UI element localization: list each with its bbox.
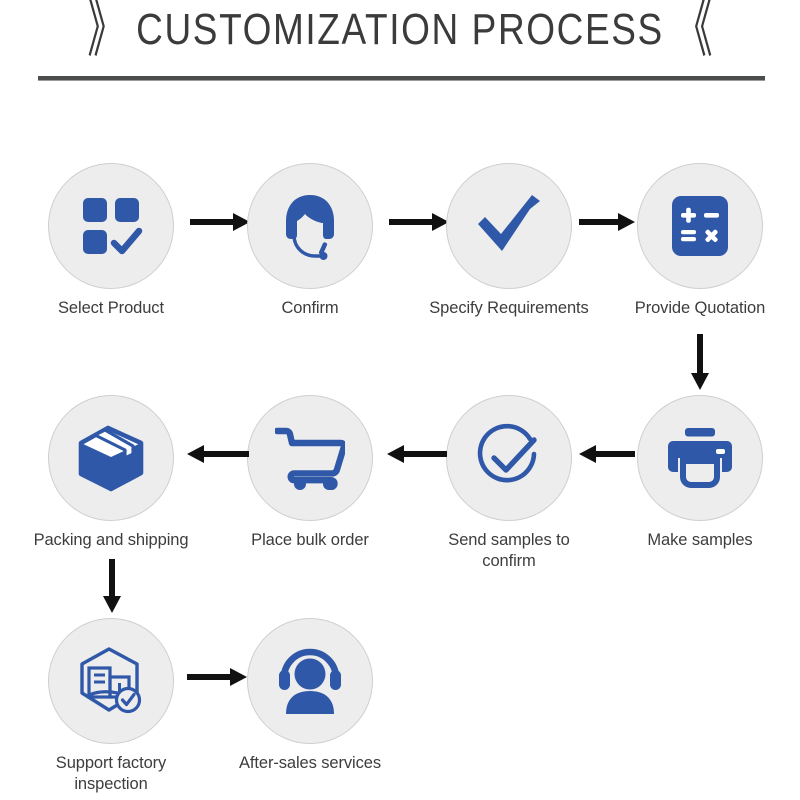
- process-step-packing-and-shipping[interactable]: Packing and shipping: [26, 395, 196, 551]
- step-icon-bubble: [48, 163, 174, 289]
- process-step-select-product[interactable]: Select Product: [26, 163, 196, 319]
- step-icon-bubble: [247, 163, 373, 289]
- step-label: Support factory inspection: [26, 753, 196, 795]
- circle-check-icon: [474, 423, 544, 493]
- arrow-step8-to-step9: [101, 558, 123, 614]
- step-icon-bubble: [446, 395, 572, 521]
- step-label: Send samples to confirm: [424, 530, 594, 572]
- package-box-icon: [75, 424, 147, 492]
- process-flow-diagram: Select Product Confirm: [0, 0, 800, 800]
- process-step-specify-requirements[interactable]: Specify Requirements: [424, 163, 594, 319]
- shopping-cart-icon: [275, 426, 345, 490]
- arrow-step6-to-step7: [386, 443, 448, 465]
- headset-person-icon: [274, 648, 346, 714]
- process-step-confirm[interactable]: Confirm: [225, 163, 395, 319]
- step-icon-bubble: [48, 618, 174, 744]
- factory-inspection-icon: [76, 646, 146, 716]
- printer-icon: [666, 427, 734, 489]
- step-label: Specify Requirements: [424, 298, 594, 319]
- process-step-make-samples[interactable]: Make samples: [615, 395, 785, 551]
- arrow-step4-to-step5: [689, 333, 711, 391]
- step-label: Confirm: [225, 298, 395, 319]
- step-label: Make samples: [615, 530, 785, 551]
- process-step-place-bulk-order[interactable]: Place bulk order: [225, 395, 395, 551]
- step-icon-bubble: [247, 395, 373, 521]
- process-step-provide-quotation[interactable]: Provide Quotation: [615, 163, 785, 319]
- step-label: Place bulk order: [225, 530, 395, 551]
- step-icon-bubble: [48, 395, 174, 521]
- step-label: Provide Quotation: [615, 298, 785, 319]
- process-step-send-samples-to-confirm[interactable]: Send samples to confirm: [424, 395, 594, 572]
- step-label: After-sales services: [225, 753, 395, 774]
- step-label: Select Product: [26, 298, 196, 319]
- step-icon-bubble: [637, 395, 763, 521]
- calculator-icon: [668, 194, 732, 258]
- checkmark-icon: [472, 189, 546, 263]
- step-icon-bubble: [446, 163, 572, 289]
- process-step-after-sales-services[interactable]: After-sales services: [225, 618, 395, 774]
- step-icon-bubble: [637, 163, 763, 289]
- process-step-support-factory-inspection[interactable]: Support factory inspection: [26, 618, 196, 795]
- grid-check-icon: [78, 193, 144, 259]
- step-label: Packing and shipping: [26, 530, 196, 551]
- support-agent-icon: [274, 190, 346, 262]
- step-icon-bubble: [247, 618, 373, 744]
